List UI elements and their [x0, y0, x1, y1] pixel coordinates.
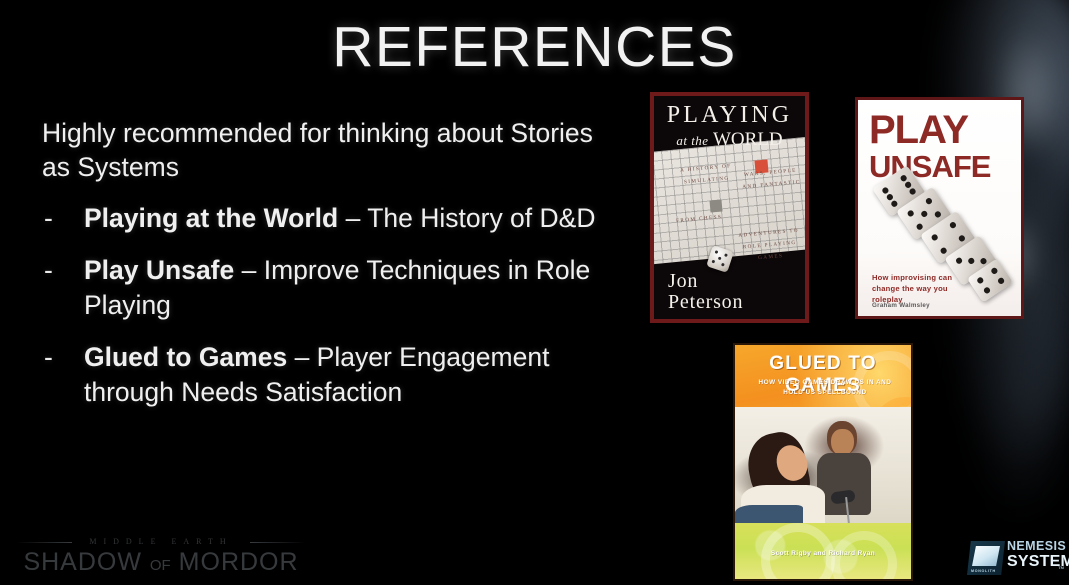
book-author: Graham Walmsley	[872, 302, 930, 309]
texture-blob	[959, 300, 1069, 520]
watermark-superline: MIDDLE EARTH	[16, 537, 306, 546]
nemesis-logo-line-1: NEMESIS	[1007, 539, 1069, 553]
book-author: Scott Rigby and Richard Ryan	[735, 550, 911, 557]
lead-paragraph: Highly recommended for thinking about St…	[42, 116, 602, 184]
slide-body: Highly recommended for thinking about St…	[42, 116, 602, 427]
watermark-word-shadow: SHADOW	[23, 548, 149, 576]
list-item: - Playing at the World – The History of …	[42, 201, 602, 236]
slide-title: REFERENCES	[0, 14, 1069, 80]
reference-list: - Playing at the World – The History of …	[42, 201, 602, 410]
nemesis-badge-label: MONOLITH	[971, 569, 996, 573]
book-title-line-2: at the WORLD	[654, 129, 805, 152]
list-item: - Glued to Games – Player Engagement thr…	[42, 340, 602, 410]
blurb-line: FROM CHESS	[669, 211, 730, 228]
nemesis-system-logo: MONOLITH NEMESIS SYSTEM TM	[967, 537, 1063, 579]
bullet-dash-icon: -	[44, 340, 53, 375]
nemesis-badge-shape	[972, 546, 1000, 566]
nemesis-badge-icon: MONOLITH	[967, 541, 1005, 575]
list-item: - Play Unsafe – Improve Techniques in Ro…	[42, 253, 602, 323]
book-blurb: A HISTORY OF SIMULATING WARS, PEOPLE AND…	[662, 152, 807, 256]
blurb-line: A HISTORY OF SIMULATING	[668, 159, 744, 189]
reference-title: Glued to Games	[84, 342, 287, 372]
book-cover-glued-to-games: GLUED TO GAMES HOW VIDEO GAMES DRAW US I…	[733, 343, 913, 581]
author-last-name: Peterson	[668, 291, 743, 313]
blurb-line: WARS, PEOPLE AND FANTASTIC	[739, 164, 803, 193]
watermark-word-of: OF	[150, 557, 171, 574]
photo-shape	[831, 429, 854, 456]
book-title-line-1: PLAYING	[667, 102, 793, 128]
book-subtitle: HOW VIDEO GAMES DRAW US IN AND HOLD US S…	[751, 378, 899, 398]
book-cover-play-unsafe: PLAY UNSAFE	[855, 97, 1024, 319]
reference-title: Play Unsafe	[84, 255, 234, 285]
book-cover-playing-at-the-world: A HISTORY OF SIMULATING WARS, PEOPLE AND…	[650, 92, 809, 323]
watermark-title: SHADOW OF MORDOR	[16, 548, 306, 577]
reference-title: Playing at the World	[84, 203, 338, 233]
bullet-dash-icon: -	[44, 201, 53, 236]
shadow-of-mordor-watermark: MIDDLE EARTH SHADOW OF MORDOR	[16, 537, 306, 577]
blurb-line: ADVENTURES TO ROLE PLAYING GAMES	[734, 224, 805, 266]
photo-shape	[817, 453, 871, 515]
book-author: Jon Peterson	[654, 271, 805, 313]
presentation-slide: REFERENCES Highly recommended for thinki…	[0, 0, 1069, 585]
book-title-line-1: PLAY	[869, 112, 1013, 149]
book-cover-art: A HISTORY OF SIMULATING WARS, PEOPLE AND…	[654, 96, 805, 319]
book-cover-art: GLUED TO GAMES HOW VIDEO GAMES DRAW US I…	[735, 345, 911, 579]
reference-description: – The History of D&D	[338, 203, 595, 233]
book-cover-art: PLAY UNSAFE	[858, 100, 1021, 316]
author-first-name: Jon	[668, 270, 698, 292]
bullet-dash-icon: -	[44, 253, 53, 288]
book-title: PLAYING at the WORLD	[654, 102, 805, 152]
book-title-connector: at the	[676, 133, 708, 148]
cover-photo-gamers	[735, 407, 911, 529]
book-title-word: WORLD	[713, 129, 783, 150]
watermark-word-mordor: MORDOR	[171, 548, 299, 576]
book-subtitle: How improvising can change the way you r…	[872, 272, 976, 305]
trademark-icon: TM	[1058, 565, 1064, 570]
